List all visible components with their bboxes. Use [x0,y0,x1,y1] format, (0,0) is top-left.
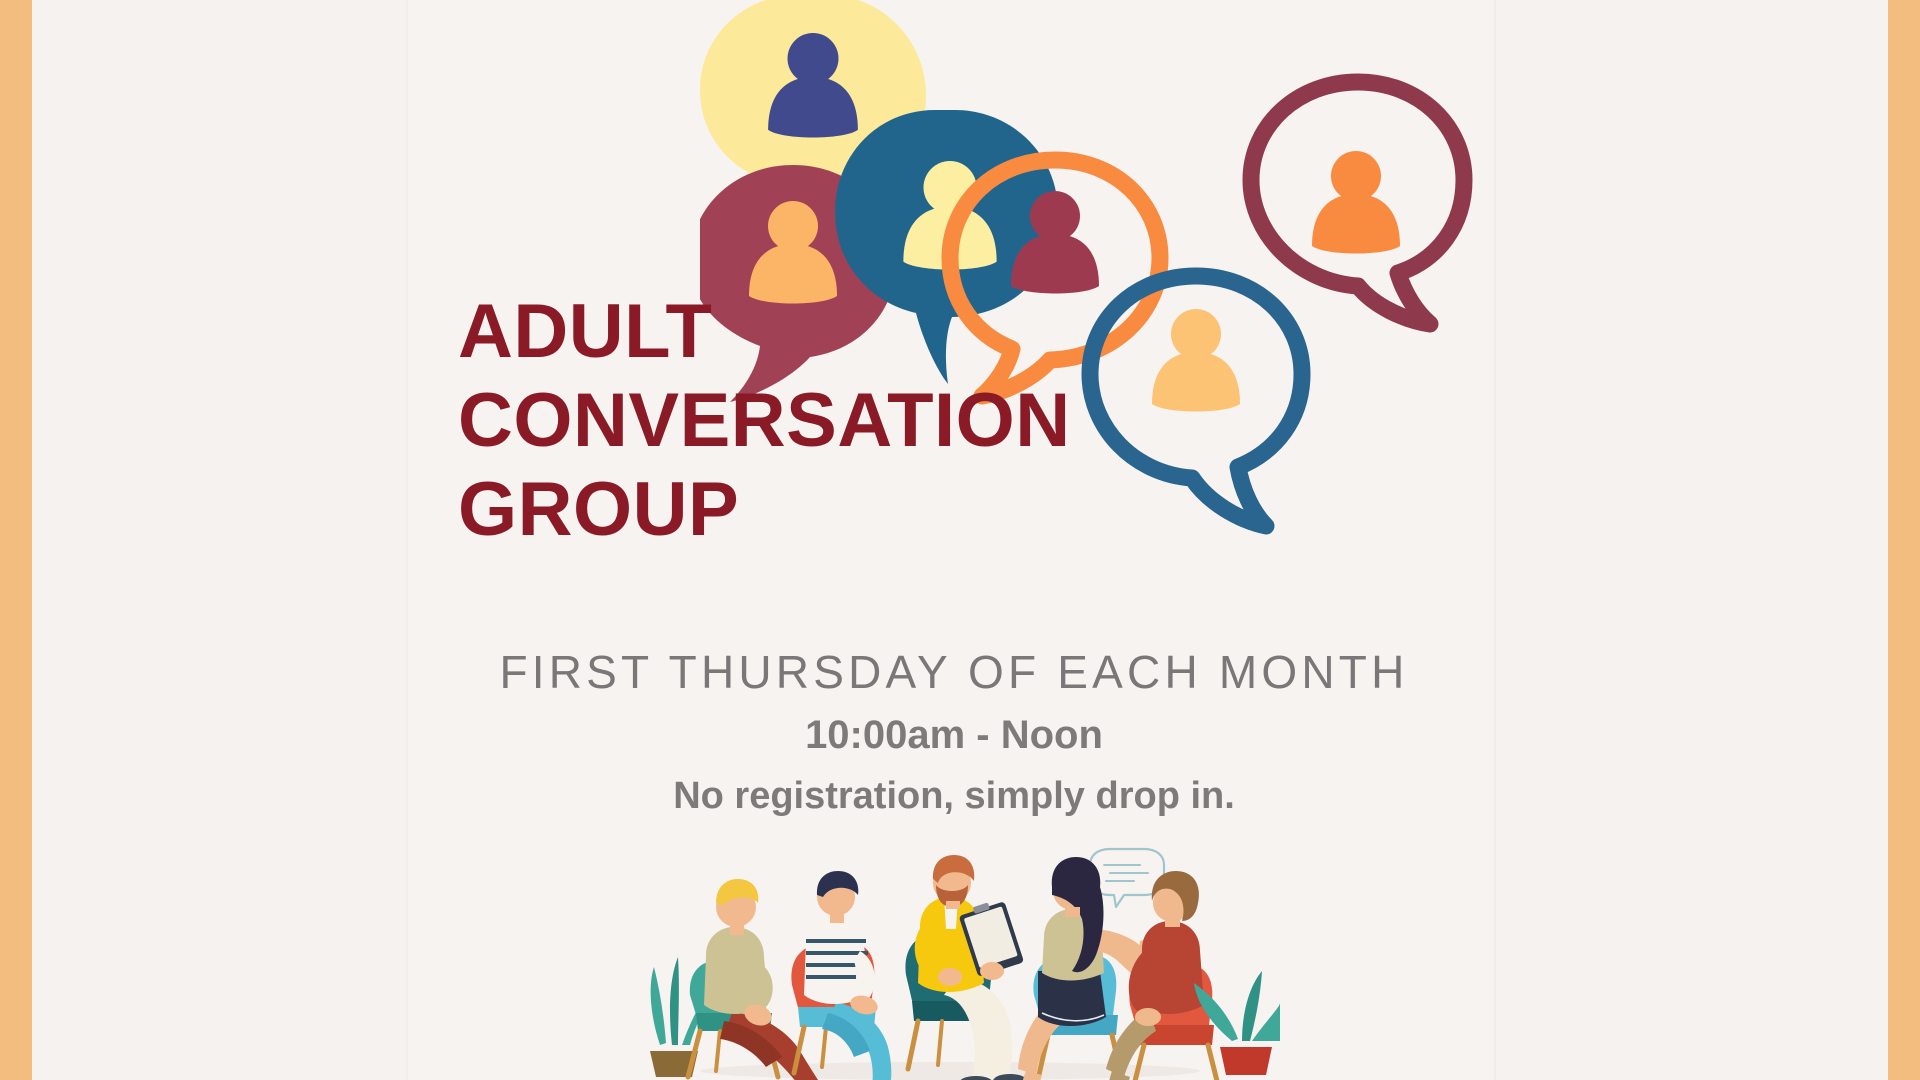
left-edge-stripe [0,0,32,1080]
title-line-3: GROUP [458,466,1418,555]
page-title: ADULT CONVERSATION GROUP [458,288,1418,555]
poster-canvas: ADULT CONVERSATION GROUP FIRST THURSDAY … [0,0,1920,1080]
group-discussion-illustration [620,845,1280,1080]
title-line-1: ADULT [458,288,1418,377]
title-line-2: CONVERSATION [458,377,1418,466]
person-3 [905,855,1027,1080]
right-edge-stripe [1888,0,1920,1080]
registration-text: No registration, simply drop in. [458,775,1450,818]
left-inner-seam [406,0,408,1080]
time-text: 10:00am - Noon [458,713,1450,758]
frequency-text: FIRST THURSDAY OF EACH MONTH [458,645,1450,699]
person-2 [791,871,897,1080]
